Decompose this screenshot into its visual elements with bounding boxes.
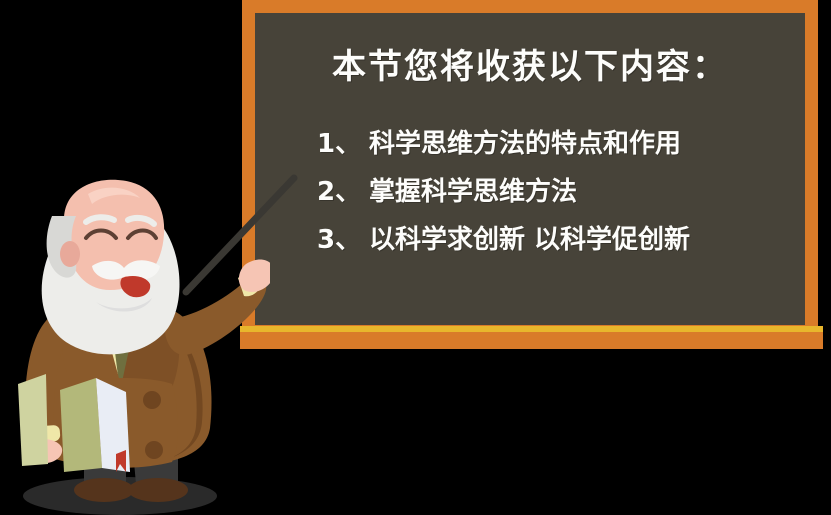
coat-button <box>145 441 163 459</box>
blackboard-ledge <box>240 332 823 349</box>
coat-button <box>143 391 161 409</box>
right-hand <box>239 259 270 292</box>
shoe-right <box>128 478 188 502</box>
book-cover <box>60 378 102 472</box>
ear <box>60 241 80 267</box>
list-item-index: 3、 <box>317 216 369 264</box>
shoe-left <box>74 478 134 502</box>
books <box>18 374 48 466</box>
slide-canvas: 本节您将收获以下内容： 1、科学思维方法的特点和作用 2、掌握科学思维方法 3、… <box>0 0 831 515</box>
list-item: 2、掌握科学思维方法 <box>317 168 797 216</box>
list-item-text: 掌握科学思维方法 <box>369 177 577 207</box>
list-item-index: 1、 <box>317 120 369 168</box>
list-item-index: 2、 <box>317 168 369 216</box>
board-item-list: 1、科学思维方法的特点和作用 2、掌握科学思维方法 3、以科学求创新 以科学促创… <box>317 120 797 264</box>
list-item: 3、以科学求创新 以科学促创新 <box>317 216 797 264</box>
professor-illustration <box>0 178 270 515</box>
blackboard-content: 本节您将收获以下内容： 1、科学思维方法的特点和作用 2、掌握科学思维方法 3、… <box>255 13 805 325</box>
list-item: 1、科学思维方法的特点和作用 <box>317 120 797 168</box>
board-title: 本节您将收获以下内容： <box>255 39 805 88</box>
list-item-text: 以科学求创新 以科学促创新 <box>369 225 690 255</box>
list-item-text: 科学思维方法的特点和作用 <box>369 129 681 159</box>
